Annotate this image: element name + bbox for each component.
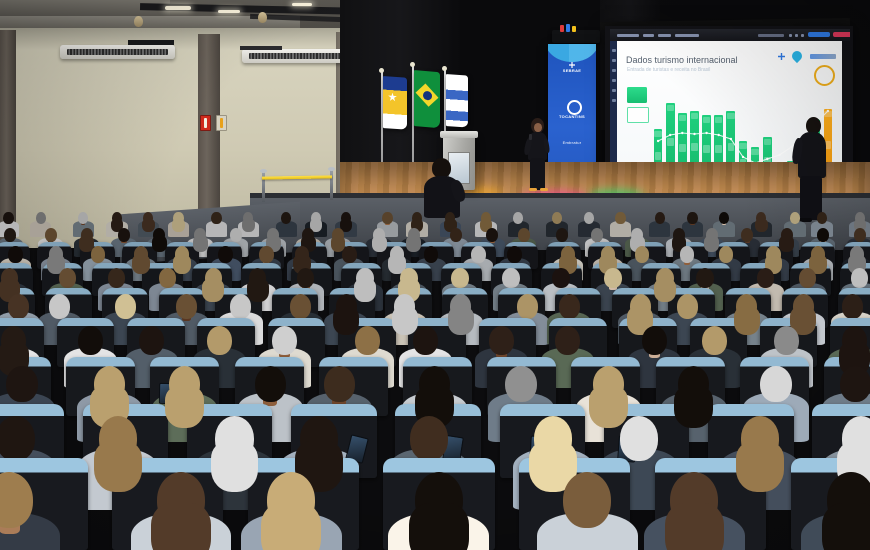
flag-brasil xyxy=(414,70,440,128)
audience-member-head xyxy=(0,416,35,461)
banner-logo-tocantins: TOCANTINS xyxy=(548,114,596,119)
audience-member-hair xyxy=(704,236,719,252)
ceiling-spotlight xyxy=(134,16,143,27)
ac-grill xyxy=(67,49,168,55)
audience-member-head xyxy=(230,228,242,242)
audience-member-head xyxy=(3,212,13,224)
audience-member-head xyxy=(719,212,729,224)
audience-member-head xyxy=(78,212,88,224)
audience-member-head xyxy=(642,326,667,355)
audience-member-head xyxy=(36,212,46,224)
audience-member-head xyxy=(489,326,514,355)
audience-member-head xyxy=(790,212,800,224)
audience-member-head xyxy=(259,246,273,263)
audience-member-hair xyxy=(247,279,269,302)
audience-member-hair xyxy=(822,503,870,550)
ceiling-light xyxy=(165,6,191,10)
rig-cable xyxy=(560,25,564,32)
tocantins-heart-icon xyxy=(790,49,804,63)
audience-member-head xyxy=(108,268,125,288)
audience-member-head xyxy=(635,246,649,263)
chart-bar-value-label xyxy=(751,149,758,155)
audience-member-head xyxy=(59,268,76,288)
audience-member-hair xyxy=(333,307,359,335)
flag-star xyxy=(388,92,397,102)
audience-member-head xyxy=(799,268,816,288)
audience-member-head xyxy=(556,228,568,242)
ceiling-light xyxy=(292,3,312,6)
menu-item-editar[interactable] xyxy=(643,34,654,37)
podium-top xyxy=(440,131,478,138)
presenter-woman-shoe xyxy=(540,188,548,191)
banner-top-wave xyxy=(548,44,596,62)
ceiling-spotlight xyxy=(258,12,267,23)
ac-duct xyxy=(240,46,282,50)
audience-member-head xyxy=(176,294,197,319)
audience-member-head xyxy=(680,246,694,263)
audience-member-head xyxy=(8,294,29,319)
audience-member-head xyxy=(451,268,468,288)
audience-member-head xyxy=(471,246,485,263)
audience-member-head xyxy=(230,294,251,319)
audience-member-hair xyxy=(392,307,418,335)
flagpole-finial xyxy=(442,66,447,71)
audience-member-head xyxy=(687,212,697,224)
audience-member-hair xyxy=(354,279,376,302)
chart-bar-segment-label xyxy=(679,144,686,152)
audience-member-head xyxy=(817,212,827,224)
audience-member-head xyxy=(8,246,22,263)
audience-member-head xyxy=(655,212,665,224)
chart-bar-value-label xyxy=(654,131,661,137)
chart-bar-value-label xyxy=(764,139,771,145)
audience-member-head xyxy=(4,228,16,242)
app-status-text xyxy=(758,34,784,37)
audience-member-head xyxy=(760,366,791,402)
menu-item-arquivo[interactable] xyxy=(617,34,639,37)
chart-bar-segment-label xyxy=(715,145,722,153)
chart-bar-value-label xyxy=(824,111,831,117)
audience-member-head xyxy=(272,326,297,355)
audience-member-head xyxy=(211,212,221,224)
stage-edge xyxy=(250,193,870,198)
audience-member-head xyxy=(840,366,870,402)
audience-member-head xyxy=(118,228,130,242)
present-button[interactable] xyxy=(808,32,830,37)
audience-member-hair xyxy=(372,236,387,252)
audience-member-hair xyxy=(448,307,474,335)
rig-cable xyxy=(572,26,576,32)
presenter-woman-face xyxy=(534,123,542,132)
audience-member-head xyxy=(139,326,164,355)
chart-bar-segment-label xyxy=(703,145,710,153)
menu-item-inserir[interactable] xyxy=(675,34,699,37)
microphone xyxy=(529,134,532,140)
audience-member-hair xyxy=(211,441,259,492)
audience-member-head xyxy=(413,326,438,355)
sign-pictogram xyxy=(220,118,224,128)
presenter-man-podium-head xyxy=(432,158,451,178)
audience-member-head xyxy=(696,268,713,288)
audience-member-head xyxy=(518,228,530,242)
audience-member-hair xyxy=(94,441,142,492)
air-conditioner-right xyxy=(242,49,354,63)
audience-member-head xyxy=(851,268,868,288)
audience-member-head xyxy=(255,366,286,402)
chart-bar-segment-label xyxy=(655,152,662,160)
audience-member-hair xyxy=(589,386,628,428)
audience-member-head xyxy=(552,268,569,288)
ac-duct xyxy=(128,40,174,45)
audience-member-head xyxy=(555,326,580,355)
flag-institucional xyxy=(446,74,468,128)
audience-member-hair xyxy=(173,255,191,274)
audience-member-head xyxy=(45,228,57,242)
audience-member-head xyxy=(91,246,105,263)
sebrae-cross-icon xyxy=(778,53,785,60)
audience-member-head xyxy=(342,246,356,263)
audience-member-head xyxy=(702,326,727,355)
audience-member-hair xyxy=(261,503,321,550)
audience-member-head xyxy=(218,246,232,263)
chart-bar-segment-label xyxy=(691,143,698,151)
flag-globe xyxy=(423,91,432,101)
flagpole-finial xyxy=(379,68,384,73)
audience-member-head xyxy=(6,366,37,402)
projector xyxy=(552,30,600,43)
audience-member-hair xyxy=(165,386,204,428)
toolbar-icon[interactable] xyxy=(795,34,798,37)
audience-member-hair xyxy=(409,503,469,550)
audience-member-hair xyxy=(242,219,255,233)
audience-member-head xyxy=(502,268,519,288)
audience-member-head xyxy=(563,472,611,528)
audience-member-head xyxy=(854,228,866,242)
audience-member-hair xyxy=(665,503,725,550)
audience-member-head xyxy=(115,294,136,319)
audience-member-head xyxy=(559,294,580,319)
chart-bar-value-label xyxy=(703,117,710,123)
audience-member-hair xyxy=(193,236,208,252)
chart-bar-value-label xyxy=(739,143,746,149)
audience-member-head xyxy=(505,366,536,402)
audience-member-head xyxy=(78,326,103,355)
chart-legend-entry xyxy=(627,87,647,103)
embratur-logo xyxy=(810,54,836,59)
audience-member-hair xyxy=(674,386,713,428)
audience-member-head xyxy=(620,416,658,461)
audience-member-hair xyxy=(151,503,211,550)
emergency-exit-sign xyxy=(200,115,211,131)
audience-member-head xyxy=(507,246,521,263)
audience-member-head xyxy=(207,326,232,355)
audience-member-hair xyxy=(202,279,224,302)
wall-shadow xyxy=(0,28,352,50)
audience-member-head xyxy=(615,212,625,224)
record-button[interactable] xyxy=(833,32,850,37)
audience-member-head xyxy=(817,228,829,242)
rig-cable xyxy=(566,24,570,32)
presenter-woman-legs xyxy=(530,158,545,190)
audience-member-head xyxy=(410,416,448,461)
chart-bar-value-label xyxy=(715,117,722,123)
audience-member-hair xyxy=(736,441,784,492)
audience-member-head xyxy=(591,228,603,242)
menu-item-ver[interactable] xyxy=(658,34,671,37)
audience-member-head xyxy=(382,212,392,224)
chart-bar-value-label xyxy=(679,115,686,121)
fire-extinguisher-sign xyxy=(216,115,227,131)
audience-member-head xyxy=(324,366,355,402)
toolbar-icon[interactable] xyxy=(801,34,804,37)
chart-bar-segment-label xyxy=(667,138,674,146)
flag-tocantins xyxy=(383,76,407,130)
presenter-man-screen-torso xyxy=(798,132,826,178)
flagpole-finial xyxy=(410,62,415,67)
audience-member-head xyxy=(719,246,733,263)
chart-bar-value-label xyxy=(727,113,734,119)
auditorium-photo: SEBRAE TOCANTINS Embratur BRASIL Dados t… xyxy=(0,0,870,550)
chart-bar-value-label xyxy=(691,113,698,119)
audience-member-hair xyxy=(755,219,768,233)
audience-member-hair xyxy=(779,236,794,252)
banner-logo-sebrae: SEBRAE xyxy=(548,68,596,73)
sign-pictogram xyxy=(204,118,208,128)
slide-subtitle: Entrada de turistas e receita no Brasil xyxy=(627,67,710,73)
audience-member-hair xyxy=(142,219,155,233)
audience-member-hair xyxy=(406,236,421,252)
audience-member-hair xyxy=(654,279,676,302)
audience-member-head xyxy=(424,246,438,263)
ceiling-light xyxy=(218,10,240,13)
toolbar-icon[interactable] xyxy=(789,34,792,37)
chart-legend-entry xyxy=(627,107,649,123)
audience-member-head xyxy=(774,326,799,355)
audience-member-head xyxy=(355,326,380,355)
air-conditioner-left xyxy=(60,45,175,59)
slide-title: Dados turismo internacional xyxy=(626,55,738,65)
audience-member-hair xyxy=(152,236,167,252)
audience-member-head xyxy=(49,294,70,319)
audience-member-head xyxy=(517,294,538,319)
chart-bar-value-label xyxy=(667,105,674,111)
audience-member-head xyxy=(281,212,291,224)
presentation-app-bar[interactable] xyxy=(610,29,850,41)
audience-member-head xyxy=(604,268,621,288)
audience-member-head xyxy=(842,294,863,319)
presenter-woman-shoe xyxy=(529,188,537,191)
chart-bar-segment-label xyxy=(728,143,735,151)
audience-member-head xyxy=(159,268,176,288)
audience-member-head xyxy=(552,212,562,224)
audience-member-head xyxy=(450,228,462,242)
banner-logo-embratur: Embratur xyxy=(548,140,596,145)
audience-member-head xyxy=(677,294,698,319)
audience-member-hair xyxy=(172,219,185,233)
audience-member-head xyxy=(290,294,311,319)
audience-member-head xyxy=(584,212,594,224)
audience-member-head xyxy=(513,212,523,224)
ac-grill xyxy=(249,53,348,59)
audience-member-hair xyxy=(132,255,150,274)
tocantins-mark-icon xyxy=(567,100,582,115)
audience-member-hair xyxy=(734,307,760,335)
